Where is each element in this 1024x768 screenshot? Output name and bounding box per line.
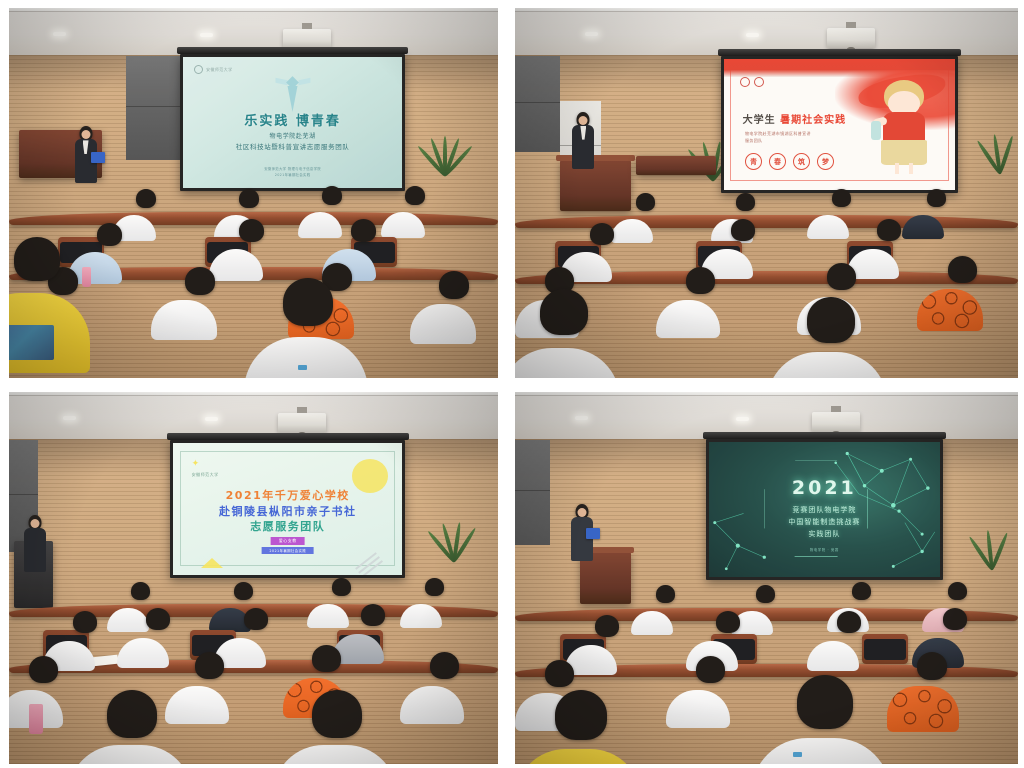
audience-head	[312, 645, 341, 672]
audience-head-foreground	[540, 289, 588, 335]
audience-body-yellow-shirt	[515, 749, 641, 764]
audience	[9, 8, 498, 378]
audience-head	[636, 193, 655, 211]
audience-head	[351, 219, 376, 242]
audience-body	[400, 686, 464, 724]
dinosaur-print	[887, 686, 959, 732]
audience-head	[239, 189, 259, 208]
audience-head	[29, 656, 58, 683]
audience-head	[234, 582, 253, 600]
audience	[515, 8, 1018, 378]
audience-body	[410, 304, 476, 344]
audience-head	[948, 256, 977, 283]
audience-head	[405, 186, 425, 205]
audience-body	[273, 745, 397, 764]
audience-head	[917, 652, 947, 680]
audience-head-foreground	[807, 297, 855, 343]
desk-row	[515, 215, 1018, 228]
audience-head-foreground	[14, 237, 60, 281]
audience-head	[837, 611, 861, 633]
audience-head-foreground	[312, 690, 362, 738]
lecture-hall-scene: ✦ 安徽师范大学 2021年千万爱心学校 赴铜陵县枞阳市亲子书社 志愿服务团队 …	[9, 392, 498, 764]
audience-head	[927, 189, 946, 207]
audience-head	[832, 189, 851, 207]
audience	[9, 392, 498, 764]
audience-head	[716, 611, 740, 633]
audience-head	[131, 582, 150, 600]
audience-head	[656, 585, 675, 603]
panel-top-left: 安徽师范大学 乐实践 博青春 物电学院赴芜湖 社区科技站暨科普宣讲志愿服务团队 …	[9, 8, 498, 378]
audience-body	[656, 300, 720, 338]
audience-body	[666, 690, 730, 728]
water-bottle	[82, 267, 91, 287]
lecture-hall-scene: 2021 竞赛团队物电学院 中国智能制造挑战赛 实践团队 物电学院 · 竞赛	[515, 392, 1018, 764]
audience-body	[244, 337, 368, 378]
audience-body	[515, 348, 620, 378]
panel-bottom-left: ✦ 安徽师范大学 2021年千万爱心学校 赴铜陵县枞阳市亲子书社 志愿服务团队 …	[9, 392, 498, 764]
audience-head	[943, 608, 967, 630]
audience-body-yellow-shirt	[9, 293, 90, 373]
audience-head	[590, 223, 614, 245]
audience-body	[767, 352, 887, 378]
audience-head	[332, 578, 351, 596]
audience-head	[73, 611, 97, 633]
audience-body	[68, 745, 192, 764]
audience-head	[425, 578, 444, 596]
audience-head	[852, 582, 871, 600]
audience-head	[877, 219, 901, 241]
audience-head	[195, 652, 224, 679]
lecture-hall-scene: 安徽师范大学 乐实践 博青春 物电学院赴芜湖 社区科技站暨科普宣讲志愿服务团队 …	[9, 8, 498, 378]
photo-collage: 安徽师范大学 乐实践 博青春 物电学院赴芜湖 社区科技站暨科普宣讲志愿服务团队 …	[0, 0, 1024, 768]
tshirt-graphic-print	[9, 325, 54, 360]
chair-back	[862, 634, 908, 664]
audience-body-orange-shirt	[917, 289, 983, 331]
audience-head	[595, 615, 619, 637]
audience-head	[244, 608, 268, 630]
audience-body	[751, 738, 891, 764]
audience	[515, 392, 1018, 764]
audience-head	[756, 585, 775, 603]
audience-head	[361, 604, 385, 626]
audience-head-foreground	[107, 690, 157, 738]
audience-head	[97, 223, 122, 246]
lecture-hall-scene: 大学生 暑期社会实践 物电学院赴芜湖市镜湖区科普宣讲 服务团队 青 春 筑 梦	[515, 8, 1018, 378]
water-bottle	[29, 704, 43, 734]
audience-body-orange-shirt	[887, 686, 959, 732]
audience-body	[151, 300, 217, 340]
audience-head	[827, 263, 856, 290]
audience-head	[239, 219, 264, 242]
audience-head	[146, 608, 170, 630]
audience-head	[686, 267, 715, 294]
audience-head	[948, 582, 967, 600]
audience-head-foreground	[555, 690, 607, 740]
audience-head	[731, 219, 755, 241]
audience-head	[136, 189, 156, 208]
audience-head	[185, 267, 215, 295]
audience-head	[439, 271, 469, 299]
audience-head	[322, 186, 342, 205]
dinosaur-print	[917, 289, 983, 331]
tshirt-logo	[298, 365, 307, 370]
audience-head	[430, 652, 459, 679]
audience-head-foreground	[797, 675, 853, 729]
audience-head	[696, 656, 725, 683]
audience-body	[165, 686, 229, 724]
panel-bottom-right: 2021 竞赛团队物电学院 中国智能制造挑战赛 实践团队 物电学院 · 竞赛	[515, 392, 1018, 764]
audience-head	[545, 660, 574, 687]
audience-head-foreground	[283, 278, 333, 326]
panel-top-right: 大学生 暑期社会实践 物电学院赴芜湖市镜湖区科普宣讲 服务团队 青 春 筑 梦	[515, 8, 1018, 378]
audience-body	[117, 638, 169, 668]
tshirt-logo	[793, 752, 802, 757]
audience-head	[736, 193, 755, 211]
audience-body	[807, 641, 859, 671]
